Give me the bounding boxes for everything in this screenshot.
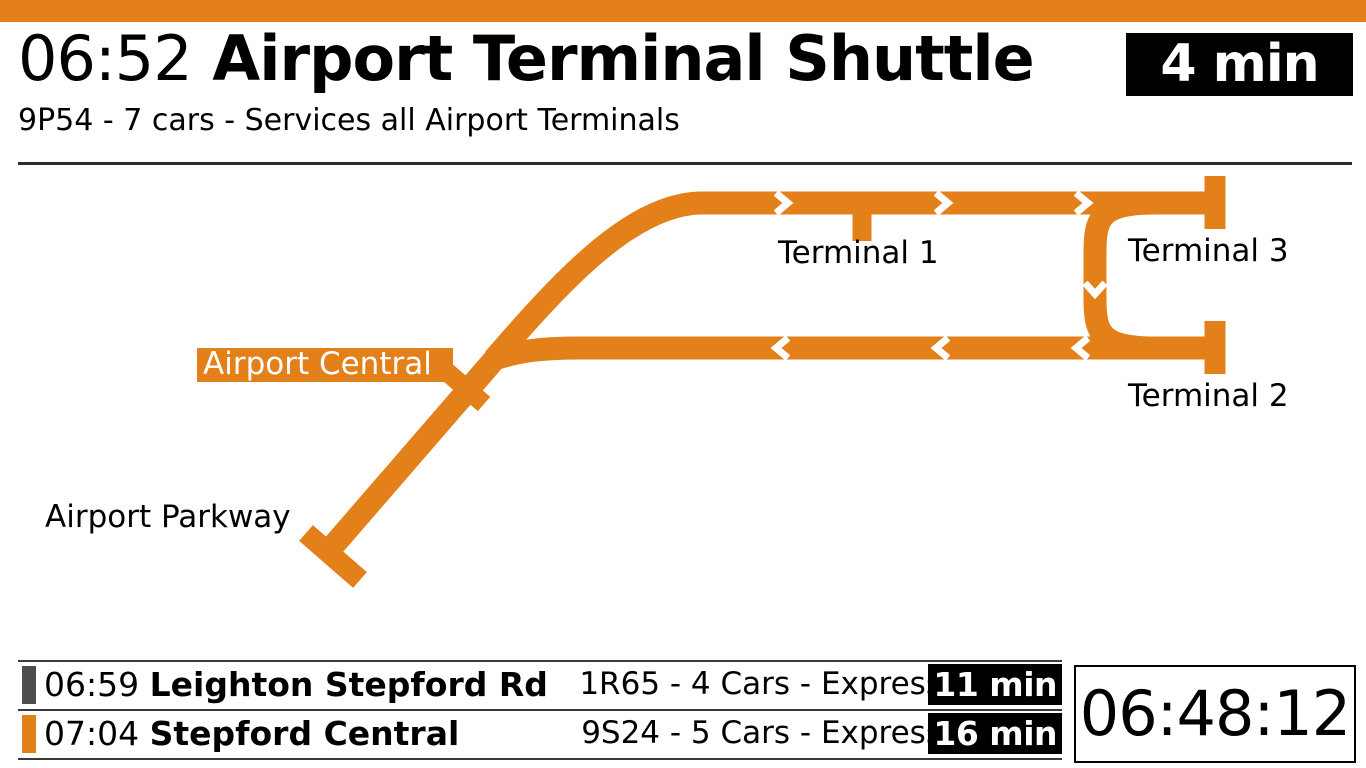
departure-time: 06:59 [44, 665, 139, 704]
eta-badge: 4 min [1126, 33, 1353, 96]
clock-time: 06:48:12 [1076, 667, 1354, 761]
terminal-loop-connector [1095, 203, 1155, 348]
clock: 06:48:12 [1074, 665, 1356, 763]
page-title: 06:52 Airport Terminal Shuttle [18, 28, 1034, 90]
terminal-3-label: Terminal 3 [1127, 233, 1289, 269]
line-color-bar [22, 666, 36, 704]
route-lines [333, 203, 1215, 546]
terminal-2-label: Terminal 2 [1127, 378, 1289, 414]
departure-minutes-badge: 16 min [928, 713, 1062, 754]
direction-chevrons [776, 193, 1105, 358]
departures-divider [18, 758, 1062, 760]
departure-time: 06:52 [18, 22, 192, 95]
destination-name: Airport Terminal Shuttle [192, 22, 1034, 95]
terminal-1-label: Terminal 1 [777, 235, 939, 271]
departure-service-info: 1R65 - 4 Cars - Express [579, 660, 942, 709]
line-color-bar [22, 715, 36, 753]
airport-central-label: Airport Central [203, 346, 432, 382]
route-map-svg: Airport Central Airport Parkway Terminal… [0, 163, 1366, 653]
departure-time: 07:04 [44, 714, 139, 753]
top-accent-bar [0, 0, 1366, 22]
service-header: 06:52 Airport Terminal Shuttle 9P54 - 7 … [0, 22, 1366, 163]
station-label-airport-central: Airport Central [197, 346, 453, 382]
departure-station: Stepford Central [150, 714, 460, 753]
lower-branch-line [494, 348, 1088, 359]
airport-parkway-label: Airport Parkway [45, 499, 291, 535]
service-subtitle: 9P54 - 7 cars - Services all Airport Ter… [18, 106, 680, 136]
upper-branch-line [494, 203, 1088, 359]
departure-row[interactable]: 07:04 Stepford Central 9S24 - 5 Cars - E… [18, 709, 1062, 758]
departure-service-info: 9S24 - 5 Cars - Express [581, 709, 942, 758]
route-map: Airport Central Airport Parkway Terminal… [0, 163, 1366, 653]
departure-row[interactable]: 06:59 Leighton Stepford Rd 1R65 - 4 Cars… [18, 660, 1062, 709]
departure-row-primary: 06:59 Leighton Stepford Rd [44, 660, 548, 709]
departure-station: Leighton Stepford Rd [150, 665, 548, 704]
departure-row-primary: 07:04 Stepford Central [44, 709, 459, 758]
departure-minutes-badge: 11 min [928, 664, 1062, 705]
